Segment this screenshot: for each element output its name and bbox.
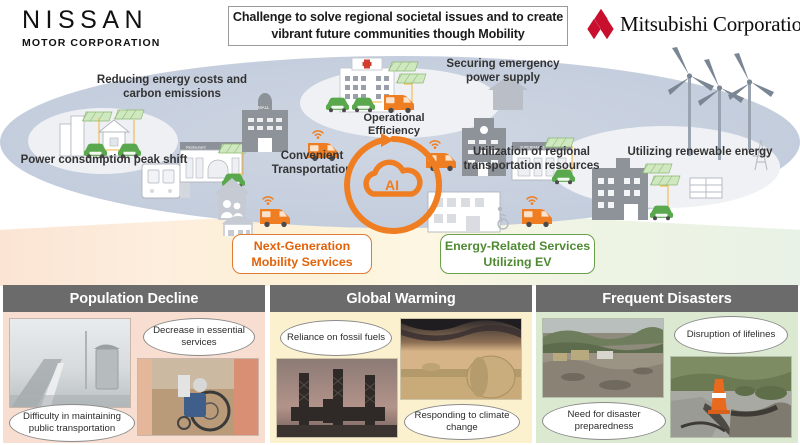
pill-next-generation-mobility-services[interactable]: Next-Generation Mobility Services (232, 234, 372, 274)
panel-population-decline: Population Decline (3, 285, 265, 443)
societal-issue-panels: Population Decline (0, 285, 800, 445)
mobility-ecosystem-scene: Restaurant MALL (0, 46, 800, 236)
bubble-responding-climate-change: Responding to climate change (404, 404, 520, 440)
mitsubishi-logo: Mitsubishi Corporation (588, 12, 800, 37)
bubble-disruption-lifelines: Disruption of lifelines (674, 316, 788, 354)
ev-van-icon (384, 95, 414, 113)
ai-core: AI (340, 132, 446, 238)
cracked-road-traffic-cone-photo (670, 356, 792, 438)
header: NISSAN MOTOR CORPORATION Challenge to so… (0, 0, 800, 52)
svg-text:Restaurant: Restaurant (186, 145, 206, 150)
challenge-banner-text: Challenge to solve regional societal iss… (229, 9, 567, 43)
mitsubishi-wordmark: Mitsubishi Corporation (620, 12, 800, 37)
bubble-need-disaster-preparedness: Need for disaster preparedness (542, 402, 666, 440)
label-utilizing-renewable-energy: Utilizing renewable energy (625, 146, 775, 160)
panel-title: Population Decline (3, 285, 265, 312)
panel-frequent-disasters: Frequent Disasters (536, 285, 798, 443)
pill-energy-related-services[interactable]: Energy-Related Services Utilizing EV (440, 234, 595, 274)
label-utilization-regional-transport: Utilization of regional transportation r… (444, 146, 619, 174)
panel-global-warming: Global Warming (270, 285, 532, 443)
mall-icon: MALL (242, 93, 288, 152)
label-power-consumption-peak-shift: Power consumption peak shift (20, 154, 188, 168)
label-securing-emergency-power: Securing emergency power supply (428, 58, 578, 86)
panel-title: Global Warming (270, 285, 532, 312)
oil-rig-photo (276, 358, 398, 438)
ai-label: AI (385, 177, 399, 193)
svg-text:MALL: MALL (258, 105, 270, 110)
mudslide-debris-photo (542, 318, 664, 398)
wheelchair-assistance-photo (137, 358, 259, 436)
arrow-head-icon (381, 133, 394, 147)
nissan-wordmark: NISSAN (22, 8, 202, 33)
hay-bale-stormy-field-photo (400, 318, 522, 400)
bubble-reliance-fossil-fuels: Reliance on fossil fuels (280, 320, 392, 356)
bubble-decrease-essential-services: Decrease in essential services (143, 318, 255, 356)
label-reducing-energy-costs: Reducing energy costs and carbon emissio… (88, 74, 256, 102)
panel-title: Frequent Disasters (536, 285, 798, 312)
battery-storage-icon (690, 178, 722, 198)
apartment-building-icon (60, 116, 84, 156)
infographic-root: NISSAN MOTOR CORPORATION Challenge to so… (0, 0, 800, 445)
nissan-logo: NISSAN MOTOR CORPORATION (22, 8, 202, 49)
ai-cloud-icon: AI (366, 162, 420, 194)
bubble-difficulty-public-transportation: Difficulty in maintaining public transpo… (9, 404, 135, 442)
challenge-banner: Challenge to solve regional societal iss… (228, 6, 568, 46)
mitsubishi-three-diamonds-icon (588, 14, 613, 36)
nissan-subtitle: MOTOR CORPORATION (22, 38, 202, 49)
foggy-road-bus-stop-photo (9, 318, 131, 408)
wind-turbine-icon (668, 47, 774, 160)
